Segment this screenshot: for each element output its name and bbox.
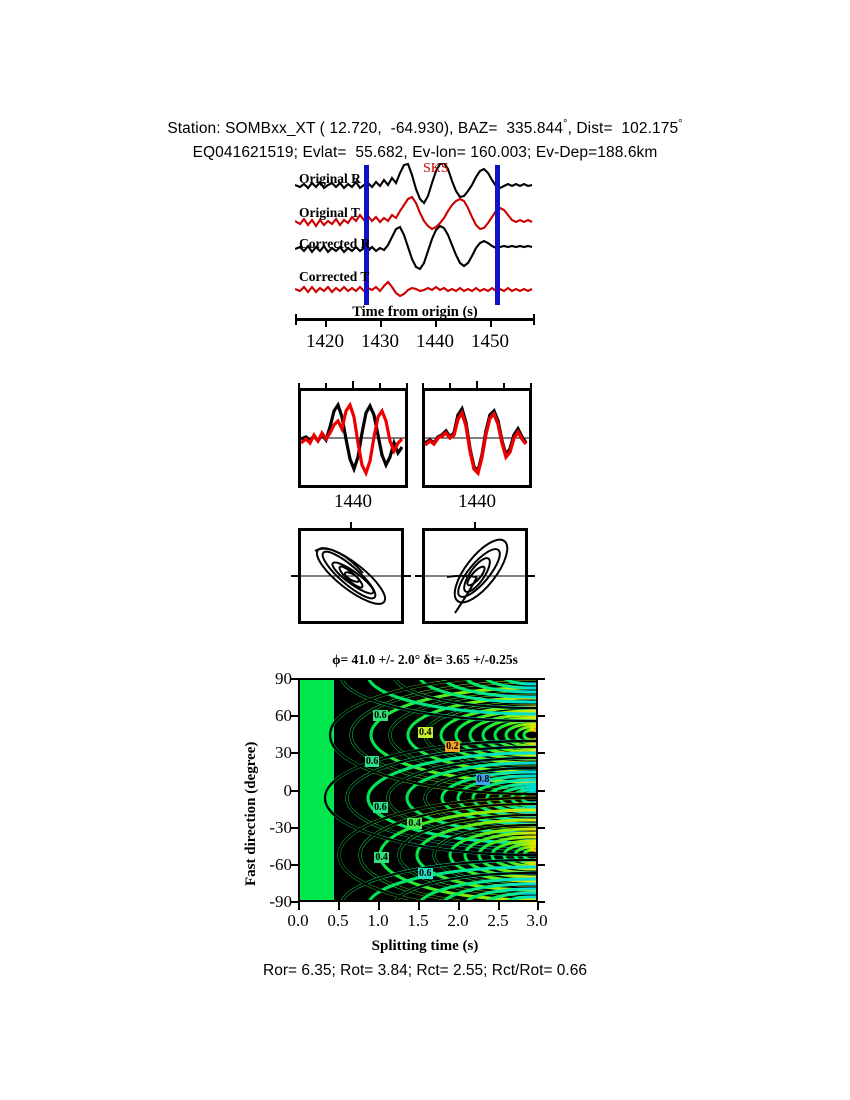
zoom-right-tick-b (449, 383, 451, 389)
zoom-right-tick-label: 1440 (422, 491, 532, 513)
y-axistick-90 (291, 678, 299, 680)
x-tick-label-0p0: 0.0 (276, 911, 320, 931)
hodogram-left-tick-top (350, 522, 352, 529)
particle-motion-corrected (422, 528, 528, 624)
zoom-left-tick-a (298, 383, 300, 389)
x-tick-label-1p5: 1.5 (396, 911, 440, 931)
sks-phase-label: SKS (423, 161, 449, 177)
y-axistick-right-neg90 (538, 901, 545, 903)
y-tick-neg60: -60 (241, 855, 292, 875)
zoom-right-tick-c (476, 381, 478, 389)
y-axistick-neg60 (291, 864, 299, 866)
splitting-parameters-title: ϕ= 41.0 +/- 2.0° δt= 3.65 +/-0.25s (0, 652, 850, 668)
y-axistick-30 (291, 752, 299, 754)
zoom-right-fast-trace (425, 409, 526, 471)
time-axis-label: Time from origin (s) (295, 304, 535, 321)
zoom-right-tick-d (503, 383, 505, 389)
y-tick-60: 60 (248, 706, 292, 726)
y-axistick-right-neg60 (538, 864, 545, 866)
x-tick-label-3p0: 3.0 (515, 911, 559, 931)
time-tick-label-1440: 1440 (404, 331, 466, 353)
hodogram-right-tick-right (527, 575, 535, 577)
contour-x-axis-label: Splitting time (s) (0, 938, 850, 955)
x-axistick-0p0 (298, 902, 300, 910)
time-axis: Time from origin (s) 1420 1430 1440 1450 (295, 306, 535, 354)
fast-slow-window-original (298, 388, 408, 488)
y-axistick-60 (291, 715, 299, 717)
contour-label-1: 0.4 (418, 727, 433, 738)
hodogram-right-tick-left (415, 575, 423, 577)
hodogram-right-tick-top (474, 522, 476, 529)
y-axistick-0 (291, 790, 299, 792)
y-tick-0: 0 (248, 781, 292, 801)
header-station-info: Station: SOMBxx_XT ( 12.720, -64.930), B… (167, 120, 563, 137)
y-axistick-right-90 (538, 678, 545, 680)
y-axistick-right-60 (538, 715, 545, 717)
contour-label-7: 0.6 (418, 868, 433, 879)
header-line-1: Station: SOMBxx_XT ( 12.720, -64.930), B… (0, 118, 850, 138)
y-tick-neg30: -30 (241, 818, 292, 838)
x-axistick-2p0 (458, 902, 460, 910)
zoom-left-tick-b (325, 383, 327, 389)
y-axistick-right-0 (538, 790, 545, 792)
y-tick-30: 30 (248, 743, 292, 763)
zoom-left-tick-label: 1440 (298, 491, 408, 513)
x-axistick-1p5 (418, 902, 420, 910)
figure-page: Station: SOMBxx_XT ( 12.720, -64.930), B… (0, 0, 850, 1100)
contour-label-4: 0.6 (373, 802, 388, 813)
trace-label-corrected-r: Corrected R (299, 236, 370, 252)
trace-label-corrected-t: Corrected T (299, 269, 369, 285)
zoom-right-slow-trace (425, 413, 526, 473)
trace-label-original-r: Original R (299, 171, 361, 187)
x-axistick-0p5 (338, 902, 340, 910)
phi-value: ϕ= 41.0 +/- 2.0° (332, 652, 423, 667)
x-tick-label-2p0: 2.0 (436, 911, 480, 931)
header-line-2: EQ041621519; Evlat= 55.682, Ev-lon= 160.… (0, 144, 850, 162)
contour-label-5: 0.4 (407, 818, 422, 829)
contour-label-3: 0.6 (365, 756, 380, 767)
waveform-panel: Original R Original T Corrected R Correc… (295, 163, 535, 308)
y-axistick-right-30 (538, 752, 545, 754)
contour-label-0: 0.6 (373, 710, 388, 721)
energy-contour-plot: 0.6 0.4 0.2 0.6 0.6 0.4 0.4 0.6 0.8 (298, 678, 538, 902)
x-axistick-1p0 (378, 902, 380, 910)
x-tick-label-2p5: 2.5 (476, 911, 520, 931)
quality-metrics-footer: Ror= 6.35; Rot= 3.84; Rct= 2.55; Rct/Rot… (0, 962, 850, 980)
y-axistick-right-neg30 (538, 827, 545, 829)
zoom-right-tick-e (530, 383, 532, 389)
contour-label-8: 0.8 (476, 774, 491, 785)
time-tick-label-1450: 1450 (459, 331, 521, 353)
particle-motion-original (298, 528, 404, 624)
window-marker-end (495, 165, 500, 305)
x-axistick-2p5 (498, 902, 500, 910)
zoom-left-tick-c (352, 381, 354, 389)
y-tick-90: 90 (248, 669, 292, 689)
zoom-left-tick-e (406, 383, 408, 389)
dt-value: δt= 3.65 +/-0.25s (424, 652, 518, 667)
y-tick-neg90: -90 (241, 892, 292, 912)
hodogram-left-tick-right (403, 575, 411, 577)
x-tick-label-0p5: 0.5 (316, 911, 360, 931)
hodogram-left-tick-left (291, 575, 299, 577)
fast-slow-window-corrected (422, 388, 532, 488)
x-axistick-3p0 (537, 902, 539, 910)
header-distance-info: , Dist= 102.175 (568, 120, 679, 137)
degree-sign-dist: ° (678, 118, 683, 130)
y-axistick-neg30 (291, 827, 299, 829)
contour-label-6: 0.4 (374, 852, 389, 863)
x-tick-label-1p0: 1.0 (356, 911, 400, 931)
time-tick-label-1430: 1430 (349, 331, 411, 353)
zoom-left-tick-d (379, 383, 381, 389)
time-tick-label-1420: 1420 (294, 331, 356, 353)
trace-label-original-t: Original T (299, 205, 360, 221)
zoom-right-tick-a (422, 383, 424, 389)
contour-label-2: 0.2 (445, 741, 460, 752)
